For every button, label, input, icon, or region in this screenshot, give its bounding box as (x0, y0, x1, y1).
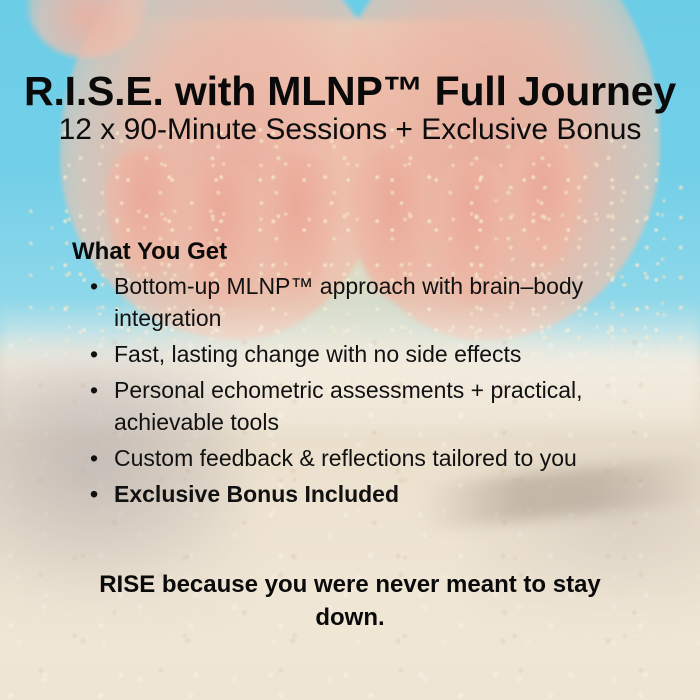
poster-content: R.I.S.E. with MLNP™ Full Journey 12 x 90… (0, 0, 700, 700)
list-item: Personal echometric assessments + practi… (88, 374, 628, 438)
benefits-list: Bottom-up MLNP™ approach with brain–body… (88, 270, 628, 514)
page-subtitle: 12 x 90-Minute Sessions + Exclusive Bonu… (0, 113, 700, 148)
what-you-get-heading: What You Get (72, 238, 227, 266)
page-title: R.I.S.E. with MLNP™ Full Journey (0, 70, 700, 113)
footer-tagline: RISE because you were never meant to sta… (70, 568, 630, 634)
poster: R.I.S.E. with MLNP™ Full Journey 12 x 90… (0, 0, 700, 700)
list-item: Bottom-up MLNP™ approach with brain–body… (88, 270, 628, 334)
list-item: Custom feedback & reflections tailored t… (88, 442, 628, 474)
list-item: Fast, lasting change with no side effect… (88, 338, 628, 370)
list-item: Exclusive Bonus Included (88, 478, 628, 510)
